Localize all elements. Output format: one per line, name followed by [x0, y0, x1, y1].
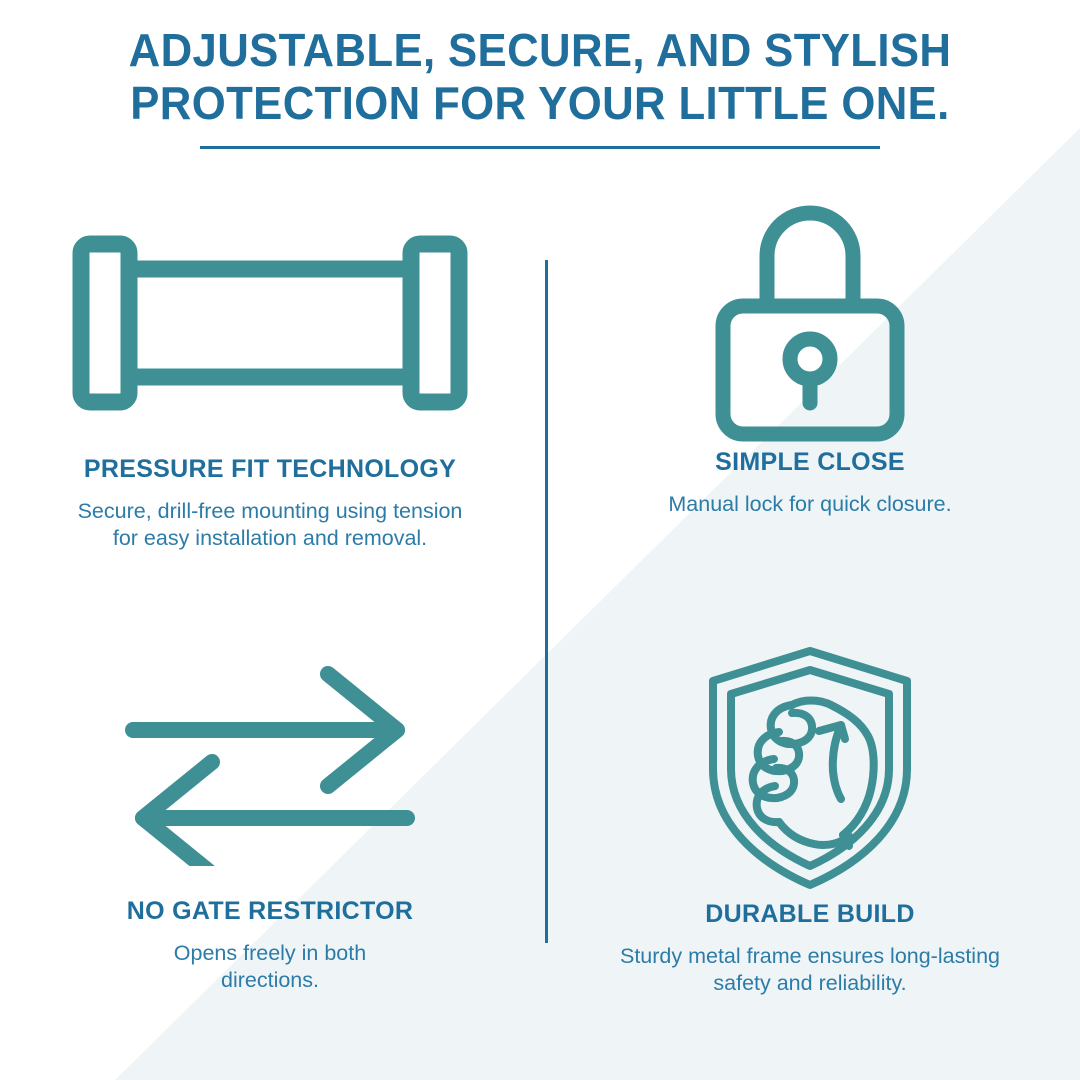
padlock-icon [560, 190, 1060, 448]
feature-description: Secure, drill-free mounting using tensio… [20, 498, 520, 553]
headline-block: ADJUSTABLE, SECURE, AND STYLISH PROTECTI… [0, 24, 1080, 131]
headline-underline-divider [200, 146, 880, 149]
feature-description: Sturdy metal frame ensures long-lasting … [560, 943, 1060, 998]
feature-card-durable-build: DURABLE BUILD Sturdy metal frame ensures… [560, 635, 1060, 998]
feature-title: SIMPLE CLOSE [560, 448, 1060, 477]
feature-title: NO GATE RESTRICTOR [20, 897, 520, 926]
feature-description: Manual lock for quick closure. [560, 491, 1060, 518]
feature-title: DURABLE BUILD [560, 900, 1060, 929]
page-title: ADJUSTABLE, SECURE, AND STYLISH PROTECTI… [27, 24, 1053, 131]
infographic-page: ADJUSTABLE, SECURE, AND STYLISH PROTECTI… [0, 0, 1080, 1080]
feature-grid: PRESSURE FIT TECHNOLOGY Secure, drill-fr… [0, 190, 1080, 1080]
feature-card-no-gate-restrictor: NO GATE RESTRICTOR Opens freely in both … [20, 635, 520, 995]
pressure-fit-rod-icon [20, 190, 520, 455]
shield-fist-icon [560, 635, 1060, 900]
feature-description: Opens freely in both directions. [20, 940, 520, 995]
feature-title: PRESSURE FIT TECHNOLOGY [20, 455, 520, 484]
two-way-arrows-icon [20, 635, 520, 897]
feature-card-simple-close: SIMPLE CLOSE Manual lock for quick closu… [560, 190, 1060, 518]
feature-card-pressure-fit-technology: PRESSURE FIT TECHNOLOGY Secure, drill-fr… [20, 190, 520, 553]
